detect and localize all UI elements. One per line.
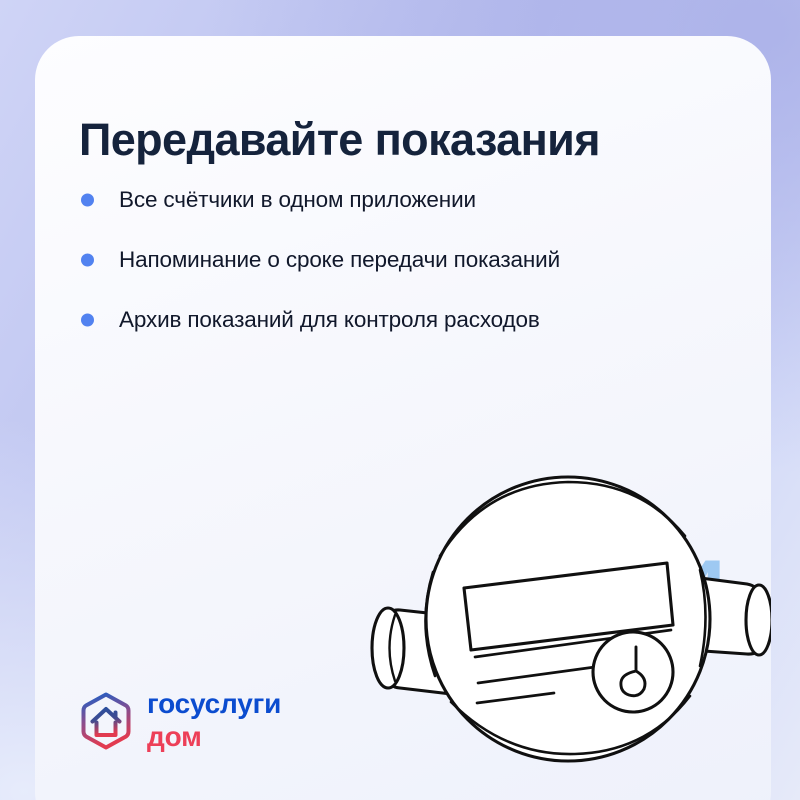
list-item-label: Все счётчики в одном приложении	[119, 185, 476, 215]
meter-right-flange-outer	[746, 585, 771, 655]
list-item-label: Архив показаний для контроля расходов	[119, 305, 540, 335]
bullet-dot-icon	[81, 254, 94, 267]
content-card: Передавайте показания Все счётчики в одн…	[35, 36, 771, 800]
brand-logo: госуслуги дом	[78, 690, 281, 751]
bullet-dot-icon	[81, 194, 94, 207]
house-outline	[93, 709, 120, 735]
page-title: Передавайте показания	[79, 116, 729, 165]
logo-wordmark: госуслуги дом	[147, 690, 281, 751]
list-item: Напоминание о сроке передачи показаний	[79, 244, 739, 276]
feature-list: Все счётчики в одном приложении Напомина…	[79, 184, 739, 336]
hexagon-outline	[84, 694, 129, 747]
logo-line-dom: дом	[147, 723, 281, 751]
meter-left-flange-outer	[372, 608, 404, 688]
list-item-label: Напоминание о сроке передачи показаний	[119, 245, 560, 275]
bullet-dot-icon	[81, 314, 94, 327]
list-item: Все счётчики в одном приложении	[79, 184, 739, 216]
list-item: Архив показаний для контроля расходов	[79, 304, 739, 336]
water-meter-illustration: 0 3 1 4	[355, 444, 771, 764]
house-hexagon-icon	[78, 691, 134, 751]
meter-body-group	[372, 477, 771, 761]
promo-banner: Передавайте показания Все счётчики в одн…	[0, 0, 800, 800]
logo-line-gosuslugi: госуслуги	[147, 690, 281, 718]
